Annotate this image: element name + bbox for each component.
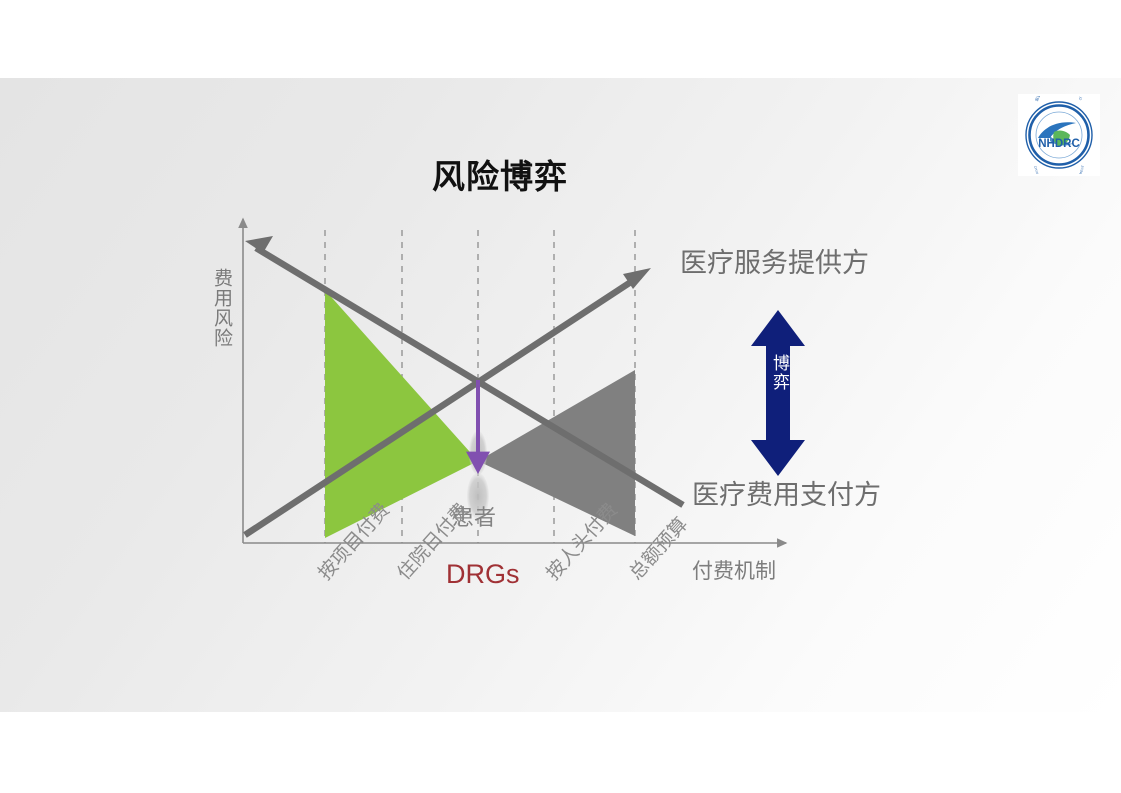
y-axis-label: 费用风险 <box>208 268 232 348</box>
game-arrow-label: 博弈 <box>766 354 790 392</box>
x-tick-label-drgs: DRGs <box>446 559 520 590</box>
x-axis-label: 付费机制 <box>692 555 776 585</box>
game-double-arrow <box>751 310 805 476</box>
provider-label: 医疗服务提供方 <box>680 241 869 280</box>
payer-label: 医疗费用支付方 <box>692 473 881 512</box>
slide-canvas: 风险博弈 NHDRC 国家卫生健康委卫生发展研究中心 CHINA NATIONA… <box>0 78 1121 712</box>
risk-game-chart <box>0 78 1121 712</box>
